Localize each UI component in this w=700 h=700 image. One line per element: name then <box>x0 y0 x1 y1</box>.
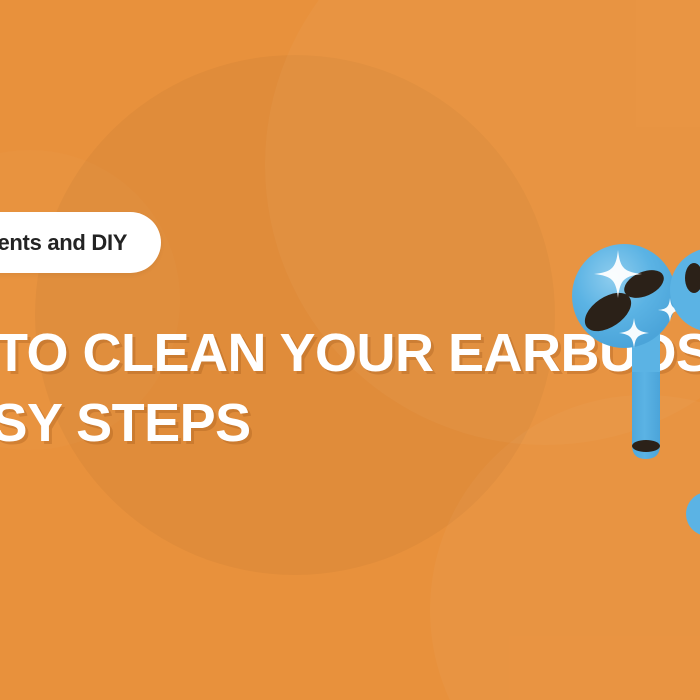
earbud-accent-svg <box>684 492 700 537</box>
headline: HOW TO CLEAN YOUR EARBUDS IN EASY STEPS <box>0 318 610 458</box>
banner-canvas: Home Improvements and DIY HOW TO CLEAN Y… <box>0 0 700 700</box>
earbud-stem-opening <box>632 440 660 452</box>
category-badge-label: Home Improvements and DIY <box>0 230 127 256</box>
category-badge[interactable]: Home Improvements and DIY <box>0 212 161 273</box>
earbud-partial-svg <box>682 248 700 368</box>
headline-line-2: IN EASY STEPS <box>0 388 610 458</box>
headline-line-1: HOW TO CLEAN YOUR EARBUDS <box>0 318 610 388</box>
background-circle-1 <box>35 55 555 575</box>
earbud-accent-circle <box>686 492 700 536</box>
earbud-accent-shape <box>684 492 700 537</box>
earbud-illustration-partial <box>682 248 700 368</box>
